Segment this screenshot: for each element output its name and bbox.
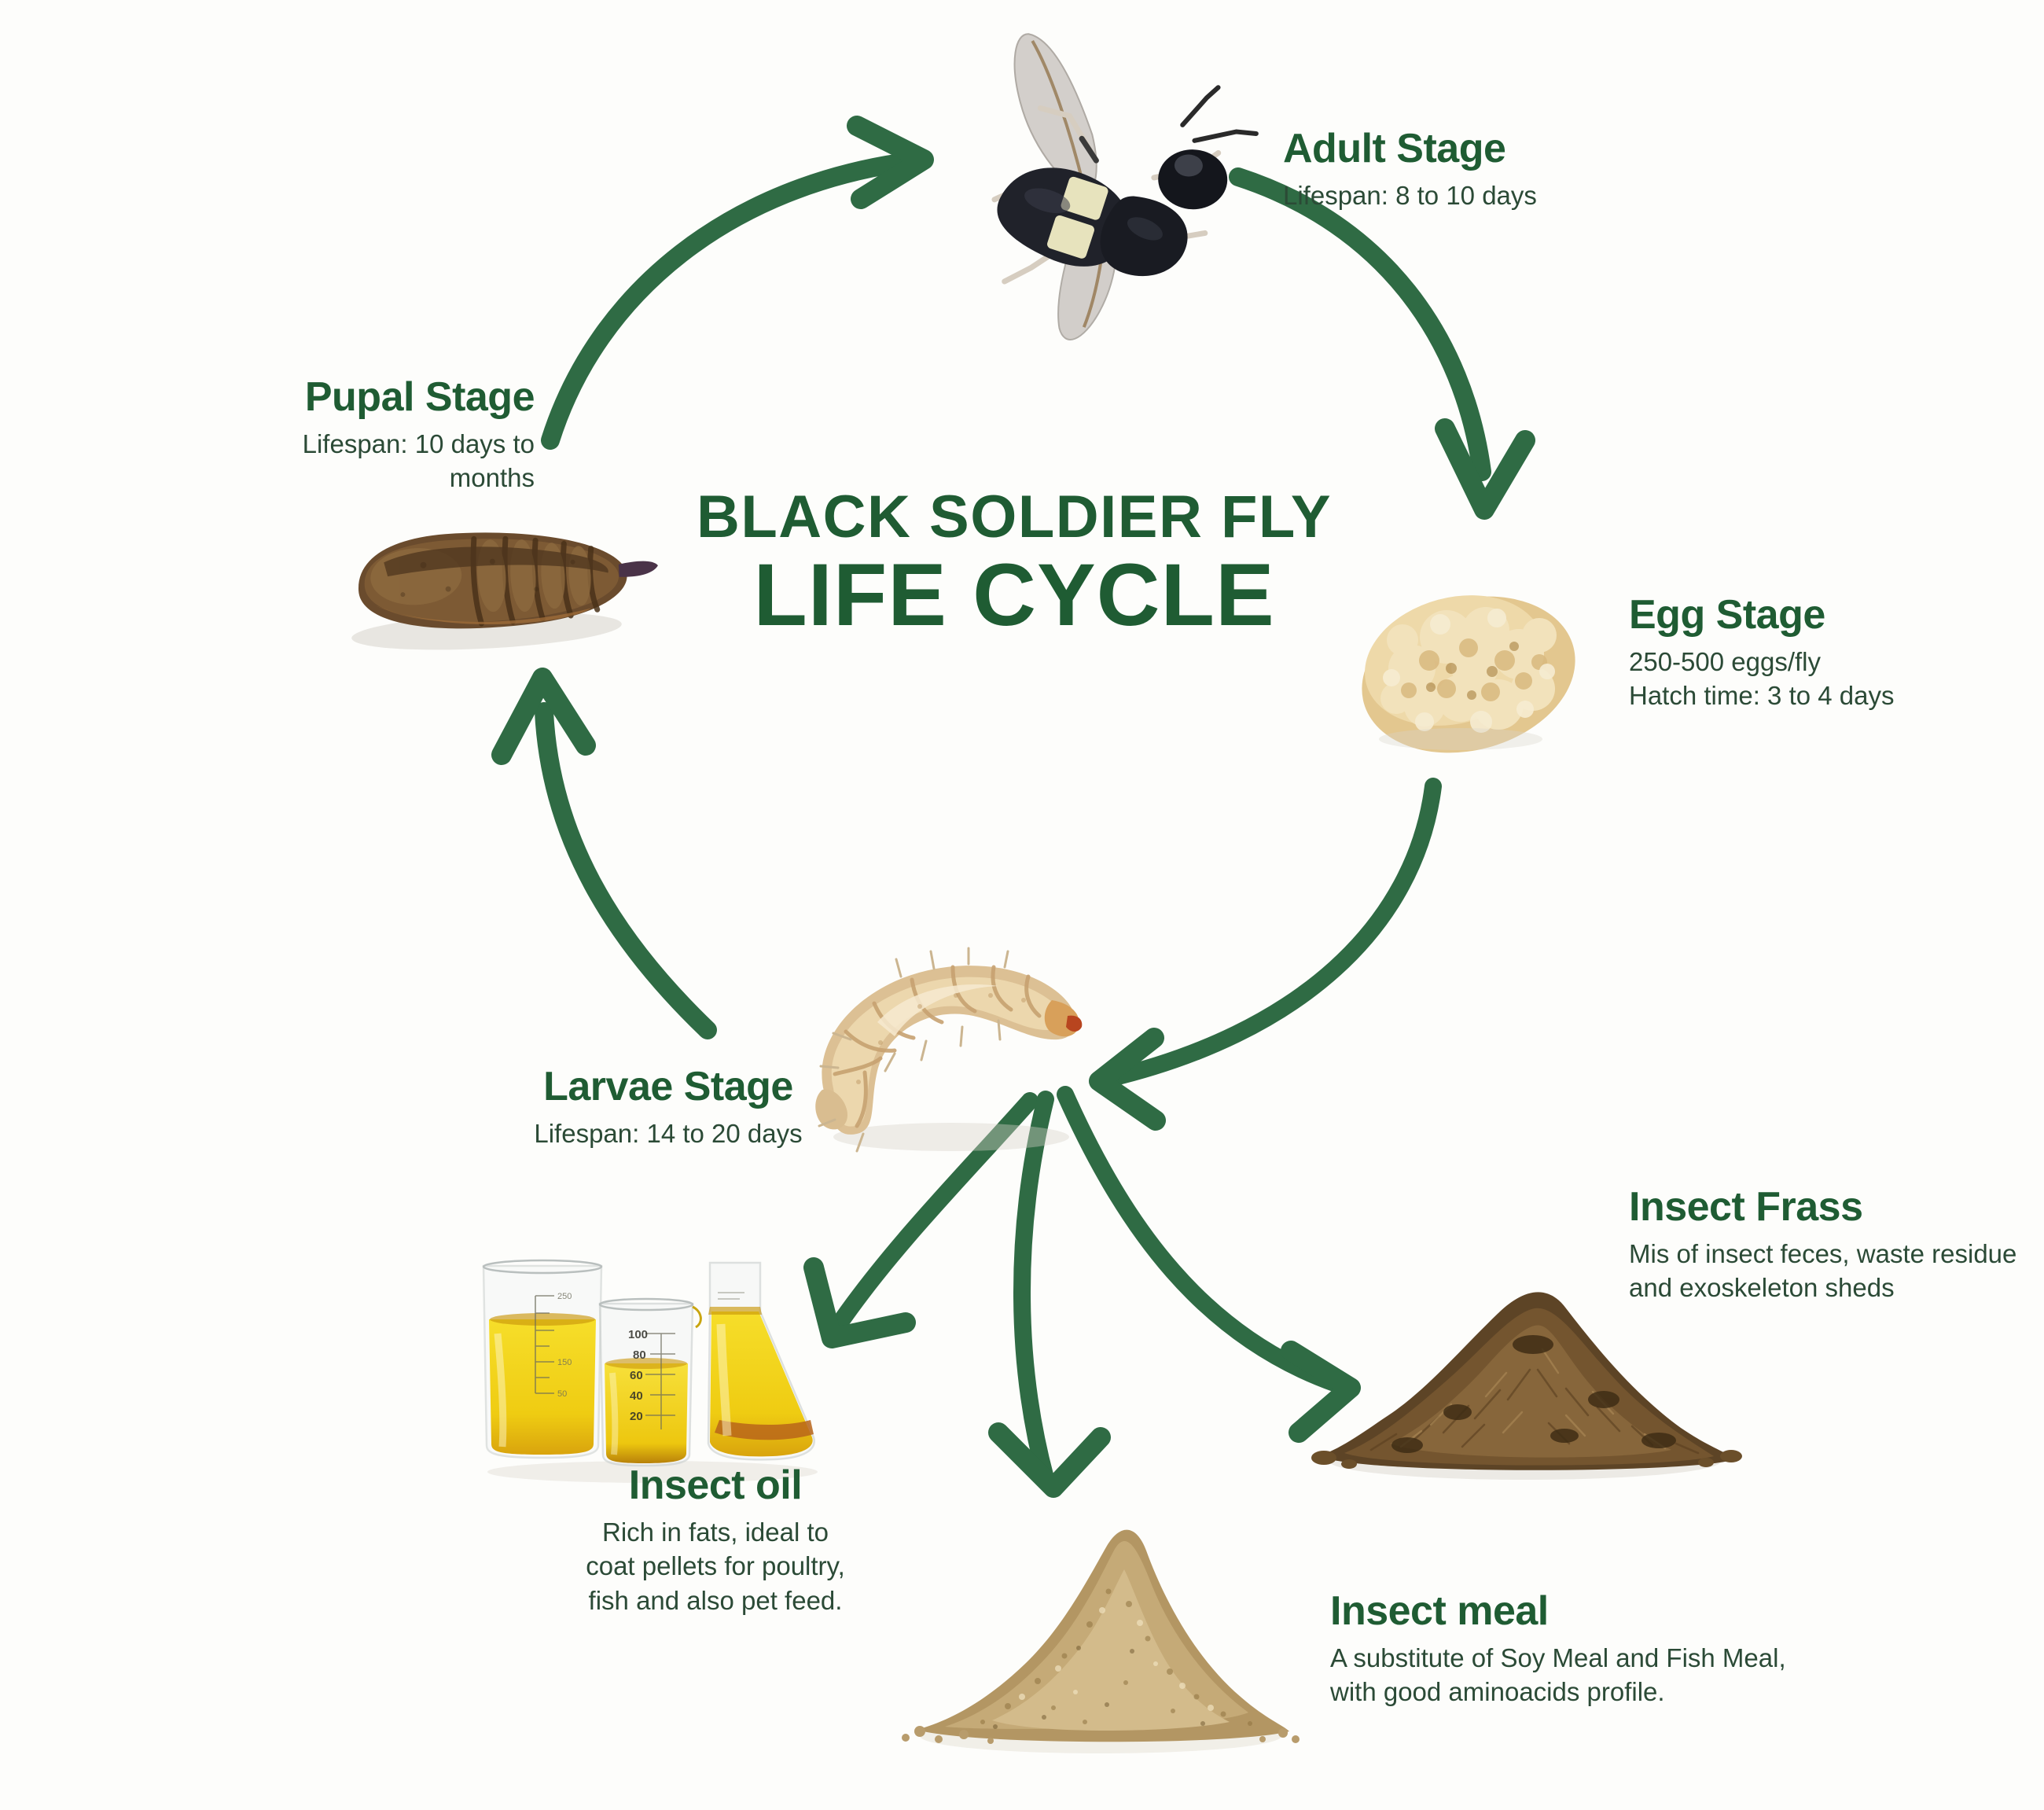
medium-beaker: 100 80 60 40 20 bbox=[600, 1299, 700, 1466]
stage-label-larvae: Larvae Stage Lifespan: 14 to 20 days bbox=[472, 1065, 865, 1150]
beaker-mark: 150 bbox=[557, 1358, 572, 1367]
beaker-mark: 80 bbox=[633, 1348, 646, 1362]
stage-detail-egg-line-1: 250-500 eggs/fly bbox=[1629, 645, 2044, 679]
product-detail-frass-line-2: and exoskeleton sheds bbox=[1629, 1271, 2044, 1305]
beaker-mark: 40 bbox=[630, 1389, 643, 1403]
egg-cluster bbox=[1336, 543, 1596, 778]
beaker-mark: 250 bbox=[557, 1292, 572, 1301]
stage-detail-larvae-line-1: Lifespan: 14 to 20 days bbox=[472, 1117, 865, 1151]
stage-title-adult: Adult Stage bbox=[1283, 127, 1723, 171]
stage-detail-pupal-line-1: Lifespan: 10 days to bbox=[47, 427, 535, 462]
product-label-frass: Insect Frass Mis of insect feces, waste … bbox=[1629, 1186, 2044, 1305]
beaker-mark: 50 bbox=[557, 1389, 567, 1399]
product-label-oil: Insect oil Rich in fats, ideal to coat p… bbox=[550, 1464, 880, 1617]
pupa bbox=[330, 511, 660, 660]
beaker-mark: 60 bbox=[630, 1369, 643, 1382]
erlenmeyer-flask bbox=[708, 1263, 814, 1459]
stage-label-egg: Egg Stage 250-500 eggs/fly Hatch time: 3… bbox=[1629, 594, 2044, 713]
beaker-mark: 20 bbox=[630, 1410, 643, 1423]
stage-title-larvae: Larvae Stage bbox=[472, 1065, 865, 1109]
arrow-pupal-to-adult bbox=[550, 126, 924, 440]
stage-label-pupal: Pupal Stage Lifespan: 10 days to months bbox=[47, 376, 535, 495]
product-title-frass: Insect Frass bbox=[1629, 1186, 2044, 1229]
product-detail-meal-line-1: A substitute of Soy Meal and Fish Meal, bbox=[1330, 1641, 1865, 1676]
arrow-adult-to-egg bbox=[1238, 177, 1525, 510]
product-detail-meal-line-2: with good aminoacids profile. bbox=[1330, 1675, 1865, 1709]
product-detail-oil-line-3: fish and also pet feed. bbox=[550, 1584, 880, 1618]
black-soldier-fly-adult bbox=[932, 20, 1246, 350]
stage-title-pupal: Pupal Stage bbox=[47, 376, 535, 419]
stage-detail-adult-line-1: Lifespan: 8 to 10 days bbox=[1283, 178, 1723, 213]
arrow-larvae-to-pupal bbox=[502, 678, 708, 1030]
product-label-meal: Insect meal A substitute of Soy Meal and… bbox=[1330, 1590, 1865, 1709]
stage-label-adult: Adult Stage Lifespan: 8 to 10 days bbox=[1283, 127, 1723, 212]
arrow-egg-to-larvae bbox=[1099, 786, 1433, 1120]
stage-detail-pupal-line-2: months bbox=[47, 461, 535, 495]
product-detail-oil-line-1: Rich in fats, ideal to bbox=[550, 1515, 880, 1550]
beakers-of-oil: 250 150 50 100 80 60 bbox=[468, 1258, 837, 1486]
infographic-canvas: .arrowPath { fill:none; stroke:#2f6b44; … bbox=[0, 0, 2044, 1810]
product-title-oil: Insect oil bbox=[550, 1464, 880, 1507]
stage-title-egg: Egg Stage bbox=[1629, 594, 2044, 637]
large-beaker: 250 150 50 bbox=[483, 1260, 601, 1458]
product-detail-oil-line-2: coat pellets for poultry, bbox=[550, 1549, 880, 1584]
product-title-meal: Insect meal bbox=[1330, 1590, 1865, 1633]
beaker-mark: 100 bbox=[628, 1328, 648, 1341]
meal-pile bbox=[896, 1494, 1305, 1777]
stage-detail-egg-line-2: Hatch time: 3 to 4 days bbox=[1629, 679, 2044, 713]
product-detail-frass-line-1: Mis of insect feces, waste residue bbox=[1629, 1237, 2044, 1271]
